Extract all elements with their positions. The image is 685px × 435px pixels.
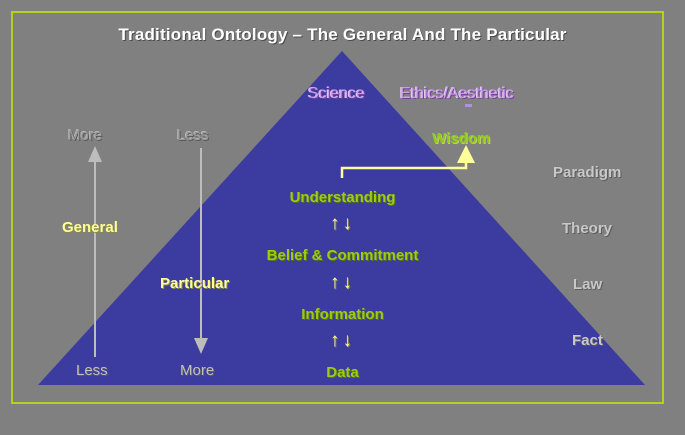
- diagram-canvas: Traditional Ontology – The General And T…: [0, 0, 685, 435]
- dash-mark: [465, 104, 472, 107]
- level-data: Data: [0, 365, 685, 380]
- right-item-paradigm: Paradigm: [553, 165, 621, 180]
- right-item-law: Law: [573, 277, 602, 292]
- general-axis-top-word: More: [68, 128, 102, 143]
- label-science: Science: [308, 86, 365, 102]
- page-title: Traditional Ontology – The General And T…: [0, 25, 685, 45]
- label-wisdom: Wisdom: [432, 131, 490, 146]
- label-ethics-aesthetic: Ethics/Aesthetic: [400, 86, 514, 102]
- level-information: Information: [0, 307, 685, 322]
- right-item-fact: Fact: [572, 333, 603, 348]
- particular-axis-top-word: Less: [177, 128, 209, 143]
- level-belief-commitment: Belief & Commitment: [0, 248, 685, 263]
- level-understanding: Understanding: [0, 190, 685, 205]
- right-item-theory: Theory: [562, 221, 612, 236]
